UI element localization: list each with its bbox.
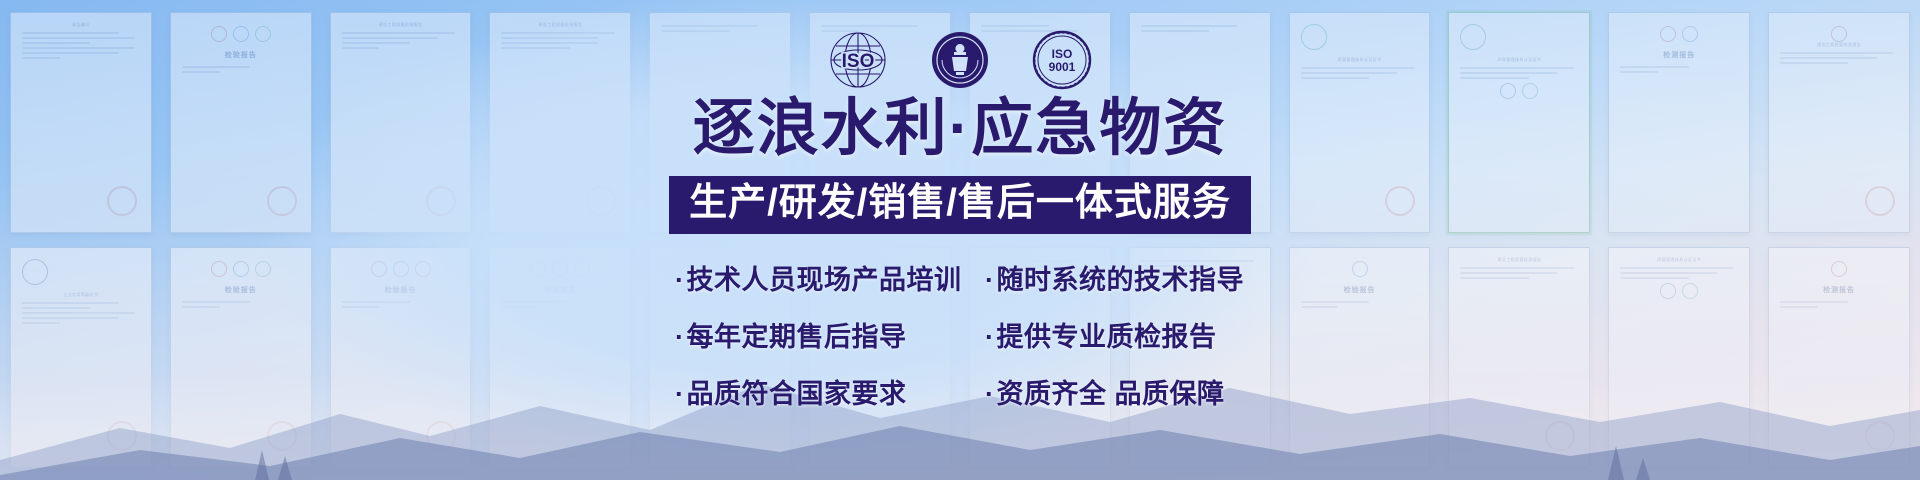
bullet-icon: ·	[985, 324, 995, 351]
feature-label: 资质齐全 品质保障	[997, 372, 1225, 411]
page-title: 逐浪水利·应急物资	[693, 96, 1228, 162]
feature-item: · 资质齐全 品质保障	[985, 372, 1245, 411]
feature-item: · 每年定期售后指导	[675, 315, 965, 354]
feature-label: 每年定期售后指导	[687, 315, 907, 354]
feature-label: 提供专业质检报告	[997, 315, 1217, 354]
banner-content: 逐浪水利·应急物资 生产/研发/销售/售后一体式服务 · 技术人员现场产品培训 …	[0, 0, 1920, 480]
bullet-icon: ·	[675, 324, 685, 351]
bullet-icon: ·	[985, 381, 995, 408]
bullet-icon: ·	[985, 267, 995, 294]
bullet-icon: ·	[675, 381, 685, 408]
promo-banner: 报告编号 检验报告 建设工程质量检测报告 建设工程质量检测报告	[0, 0, 1920, 480]
subtitle-bar: 生产/研发/销售/售后一体式服务	[669, 176, 1251, 234]
feature-item: · 随时系统的技术指导	[985, 258, 1245, 297]
feature-item: · 提供专业质检报告	[985, 315, 1245, 354]
feature-label: 随时系统的技术指导	[997, 258, 1245, 297]
feature-label: 品质符合国家要求	[687, 372, 907, 411]
feature-item: · 技术人员现场产品培训	[675, 258, 965, 297]
feature-label: 技术人员现场产品培训	[687, 258, 962, 297]
feature-list: · 技术人员现场产品培训 · 随时系统的技术指导 · 每年定期售后指导 · 提供…	[675, 258, 1245, 411]
bullet-icon: ·	[675, 267, 685, 294]
feature-item: · 品质符合国家要求	[675, 372, 965, 411]
